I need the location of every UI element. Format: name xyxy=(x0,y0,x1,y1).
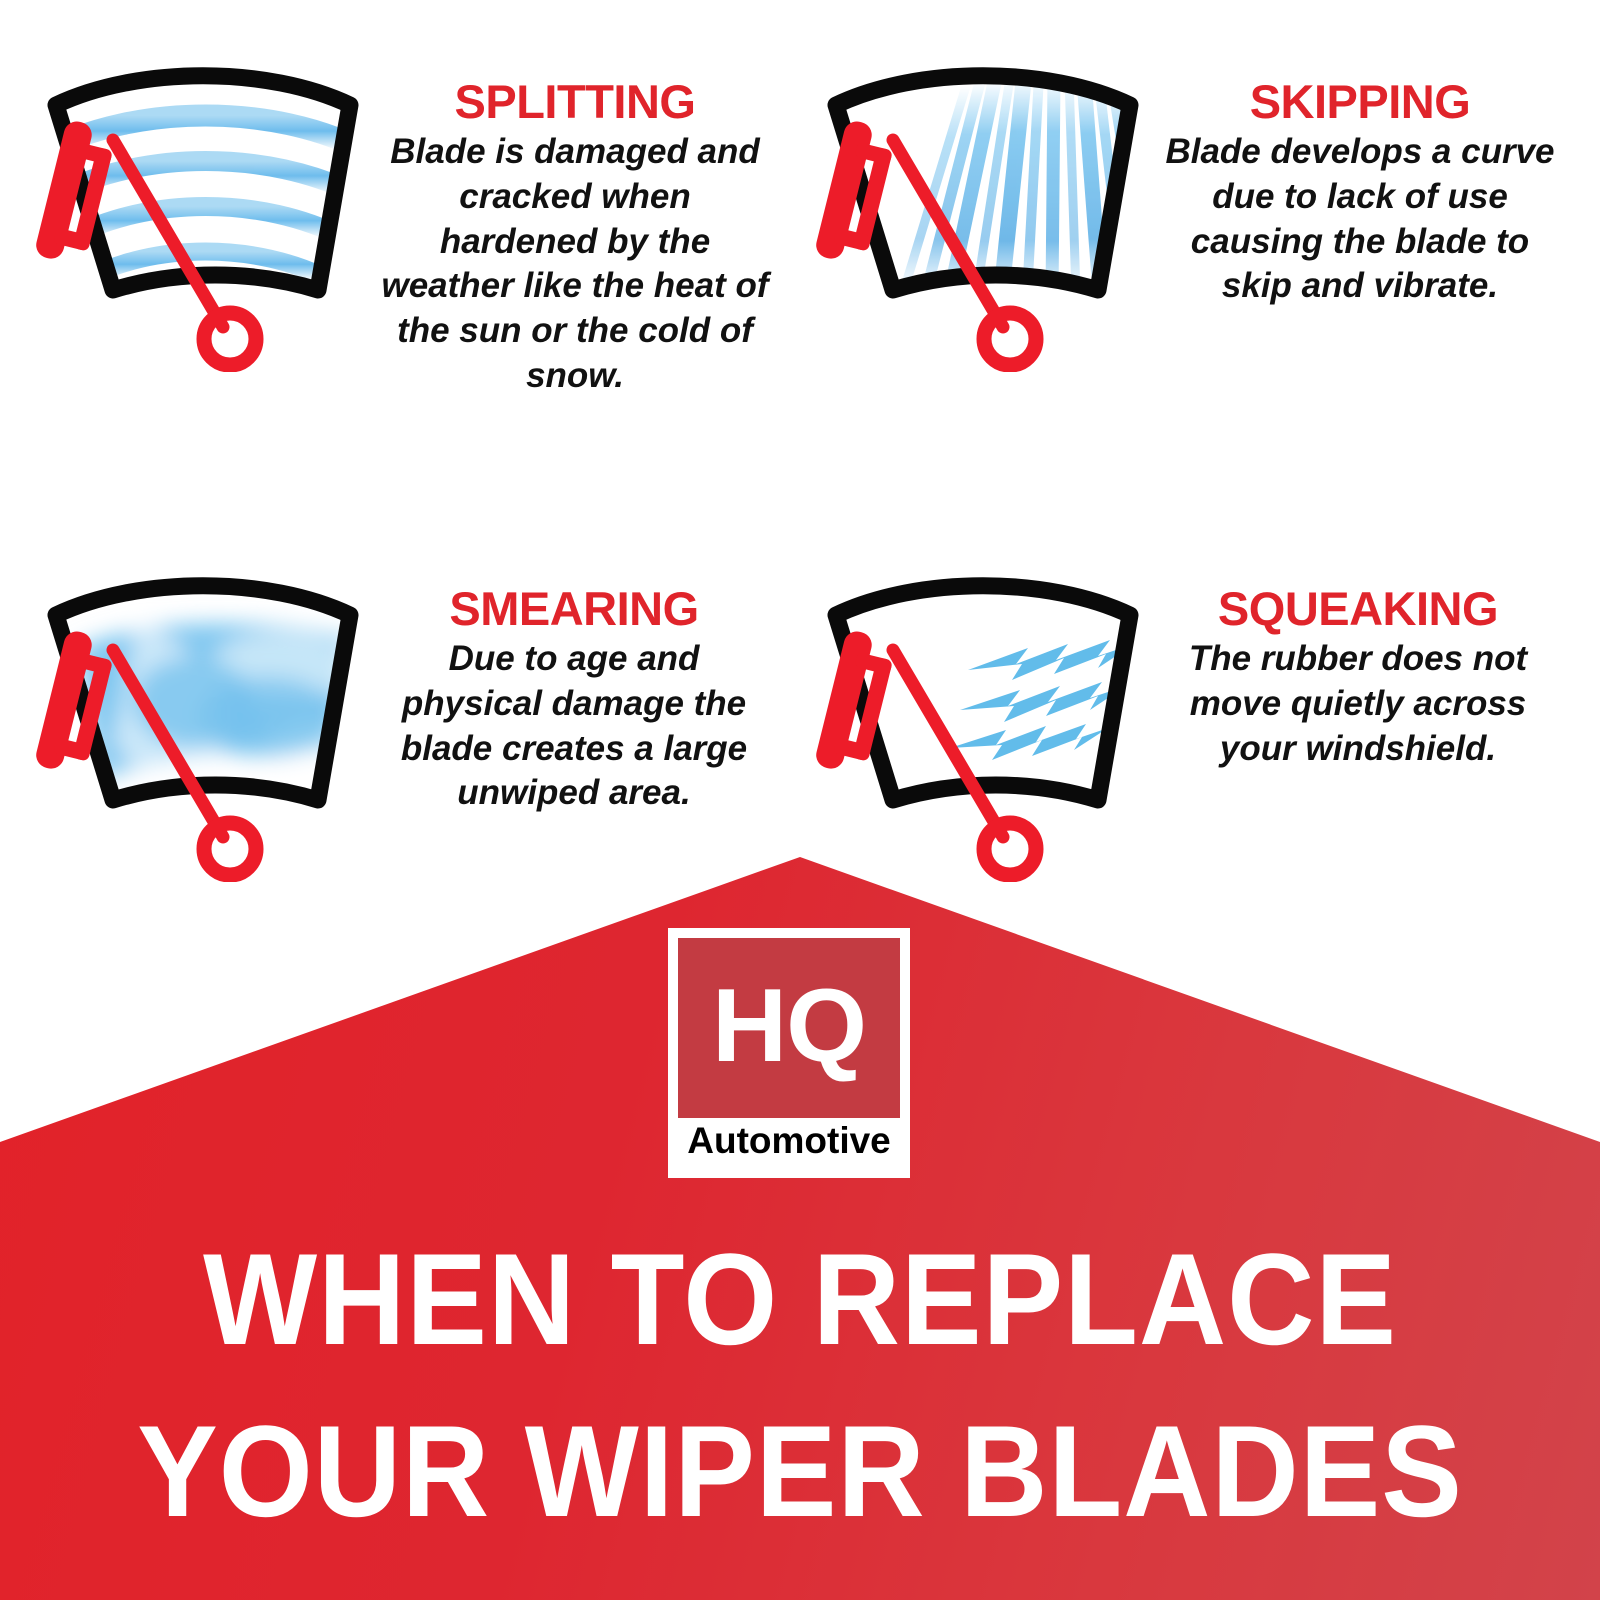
windshield-wiper-smearing-icon xyxy=(18,552,388,882)
windshield-wiper-squeaking-icon xyxy=(798,552,1168,882)
symptom-text-smearing: SMEARING Due to age and physical damage … xyxy=(378,585,770,816)
symptom-description: Due to age and physical damage the blade… xyxy=(378,637,770,816)
logo-mark-text: HQ xyxy=(712,974,866,1078)
logo-wordmark: Automotive xyxy=(668,1122,910,1159)
poster-headline: WHEN TO REPLACE YOUR WIPER BLADES xyxy=(0,1214,1600,1557)
logo-plate: HQ xyxy=(678,938,900,1118)
symptom-title: SQUEAKING xyxy=(1158,585,1558,633)
headline-line-1: WHEN TO REPLACE xyxy=(56,1214,1544,1386)
windshield-wiper-splitting-icon xyxy=(18,42,388,372)
symptom-title: SPLITTING xyxy=(380,78,770,126)
windshield-wiper-skipping-icon xyxy=(798,42,1168,372)
symptom-text-squeaking: SQUEAKING The rubber does not move quiet… xyxy=(1158,585,1558,771)
symptom-title: SKIPPING xyxy=(1160,78,1560,126)
symptom-title: SMEARING xyxy=(378,585,770,633)
infographic-poster: SPLITTING Blade is damaged and cracked w… xyxy=(0,0,1600,1600)
hq-automotive-logo: HQ Automotive xyxy=(668,928,910,1178)
symptom-text-splitting: SPLITTING Blade is damaged and cracked w… xyxy=(380,78,770,399)
headline-line-2: YOUR WIPER BLADES xyxy=(56,1386,1544,1558)
symptom-description: Blade develops a curve due to lack of us… xyxy=(1160,130,1560,309)
symptom-description: Blade is damaged and cracked when harden… xyxy=(380,130,770,399)
symptom-description: The rubber does not move quietly across … xyxy=(1158,637,1558,771)
symptom-text-skipping: SKIPPING Blade develops a curve due to l… xyxy=(1160,78,1560,309)
